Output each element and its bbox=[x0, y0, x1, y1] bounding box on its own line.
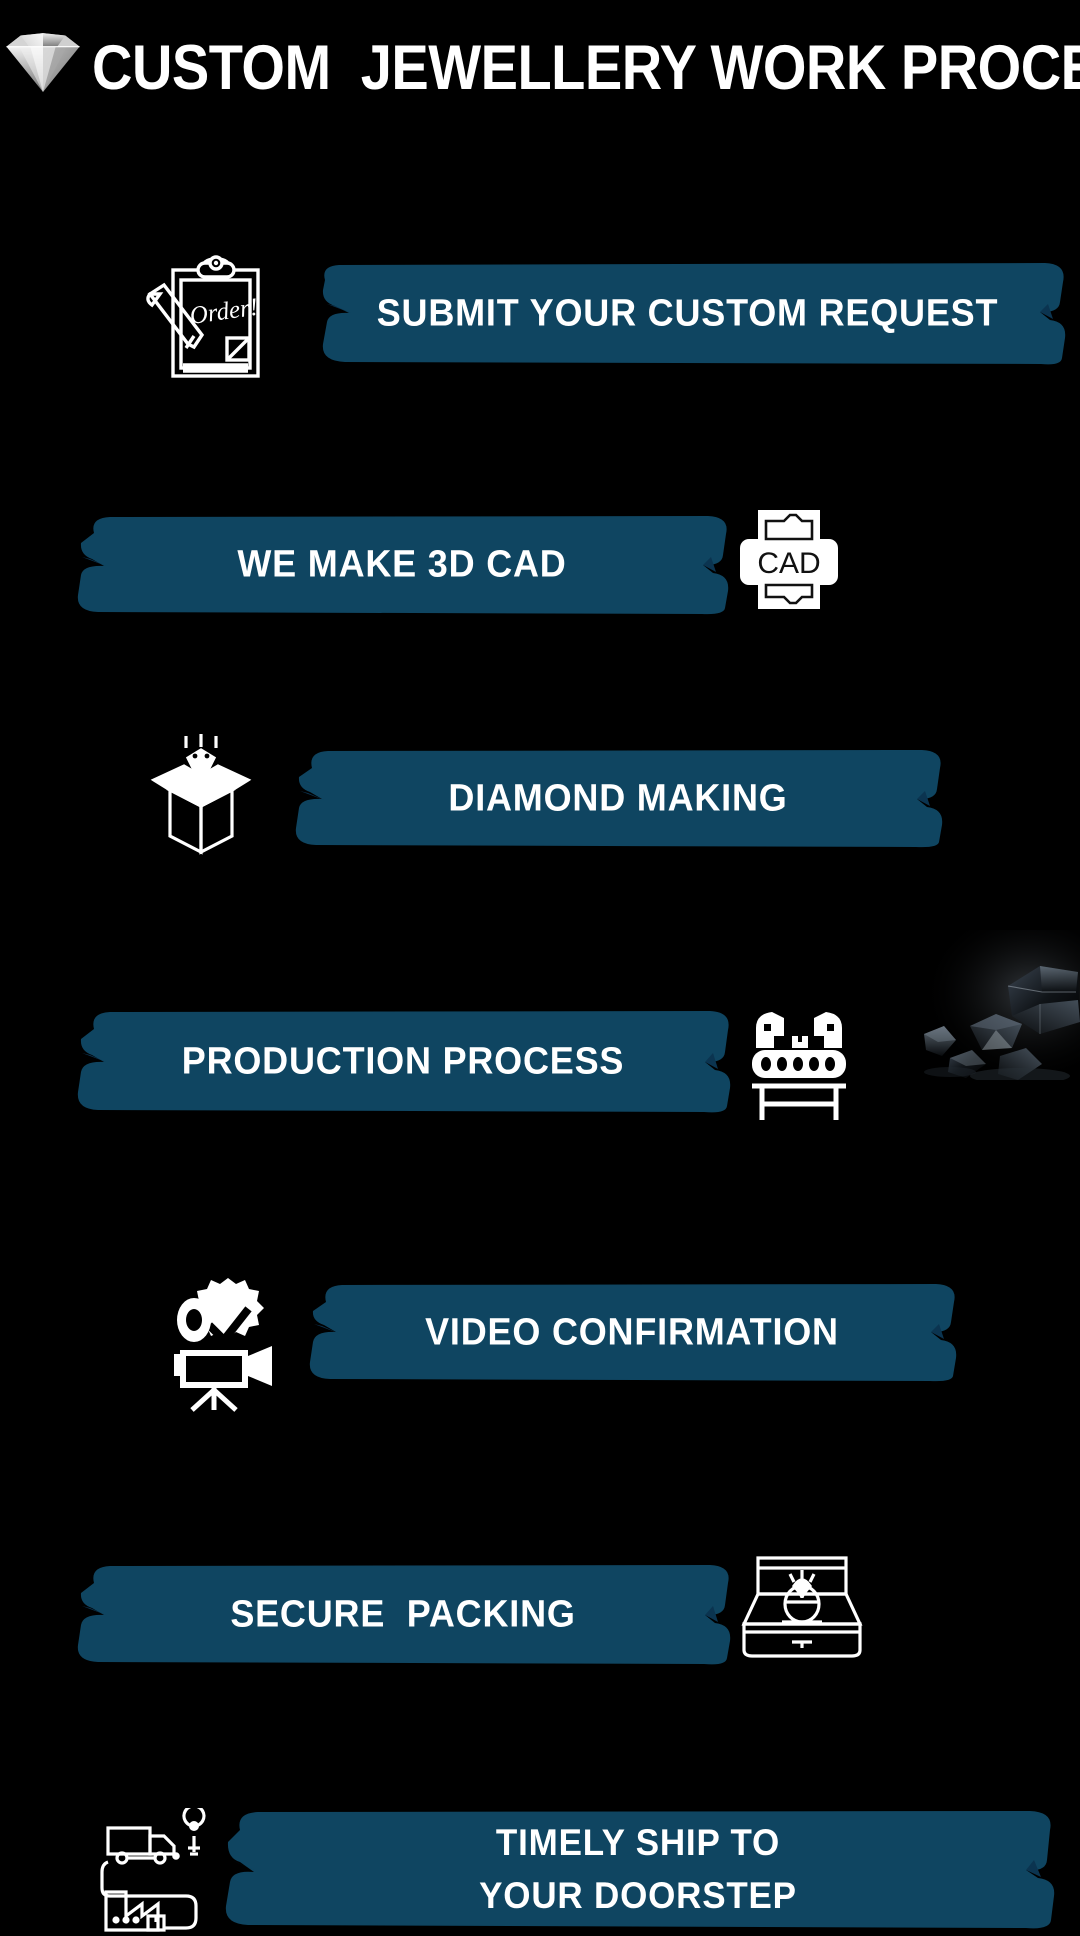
step-label-7: TIMELY SHIP TO YOUR DOORSTEP bbox=[218, 1817, 1058, 1922]
step-label-4: PRODUCTION PROCESS bbox=[72, 1039, 734, 1083]
shipping-logistics-icon bbox=[98, 1808, 222, 1936]
page-title: CUSTOM JEWELLERY WORK PROCESS bbox=[92, 33, 1062, 102]
step-label-1: SUBMIT YOUR CUSTOM REQUEST bbox=[305, 291, 1070, 335]
header: CUSTOM JEWELLERY WORK PROCESS bbox=[0, 0, 1080, 122]
step-row-7: TIMELY SHIP TO YOUR DOORSTEP bbox=[0, 900, 1080, 1040]
step-row-5: VIDEO CONFIRMATION bbox=[0, 636, 1080, 776]
ring-box-icon bbox=[738, 1554, 866, 1664]
step-banner-5[interactable]: VIDEO CONFIRMATION bbox=[302, 1282, 962, 1382]
step-row-3: DIAMOND MAKING bbox=[0, 366, 1080, 492]
step-row-1: Order! SUBMIT YOUR CUSTOM REQUEST bbox=[0, 126, 1080, 256]
step-banner-6[interactable]: SECURE PACKING bbox=[72, 1562, 734, 1666]
step-label-3: DIAMOND MAKING bbox=[288, 776, 948, 820]
step-label-2: WE MAKE 3D CAD bbox=[72, 542, 732, 586]
diamond-gem-icon bbox=[2, 26, 84, 96]
video-camera-check-icon bbox=[168, 1272, 288, 1412]
step-banner-7[interactable]: TIMELY SHIP TO YOUR DOORSTEP bbox=[218, 1808, 1058, 1932]
step-label-6: SECURE PACKING bbox=[72, 1592, 734, 1636]
step-label-5: VIDEO CONFIRMATION bbox=[302, 1310, 962, 1354]
